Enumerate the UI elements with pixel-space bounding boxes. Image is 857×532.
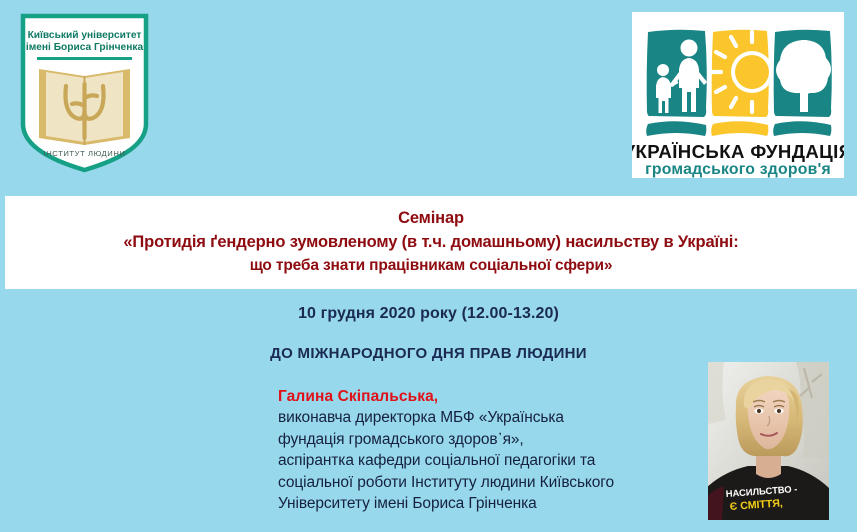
ukrainian-public-health-foundation-logo: УКРАЇНСЬКА ФУНДАЦІЯ громадського здоров'… xyxy=(632,12,844,178)
title-banner: Семінар «Протидія ґендерно зумовленому (… xyxy=(5,196,857,289)
shield-title-line1: Київський університет xyxy=(28,30,142,41)
shield-footer-label: ІНСТИТУТ ЛЮДИНИ xyxy=(44,149,126,158)
presentation-slide: Київський університет імені Бориса Грінч… xyxy=(0,0,857,532)
speaker-description-line-3: аспірантка кафедри соціальної педагогіки… xyxy=(278,450,698,472)
speaker-block: Галина Скіпальська, виконавча директорка… xyxy=(278,386,698,515)
shield-divider xyxy=(37,57,132,60)
foundation-emblem-icon: УКРАЇНСЬКА ФУНДАЦІЯ громадського здоров'… xyxy=(632,12,844,178)
foundation-subtitle: громадського здоров'я xyxy=(645,161,831,178)
speaker-portrait-photo: НАСИЛЬСТВО - Є СМІТТЯ, xyxy=(708,362,829,520)
portrait-image: НАСИЛЬСТВО - Є СМІТТЯ, xyxy=(708,362,829,520)
event-date: 10 грудня 2020 року (12.00-13.20) xyxy=(0,305,857,323)
shield-title-line2: імені Бориса Грінченка xyxy=(26,42,144,53)
event-occasion: ДО МІЖНАРОДНОГО ДНЯ ПРАВ ЛЮДИНИ xyxy=(0,345,857,362)
foundation-title: УКРАЇНСЬКА ФУНДАЦІЯ xyxy=(632,141,844,162)
seminar-label: Семінар xyxy=(398,206,464,230)
speaker-description-line-2: фундація громадського здоров᾿я», xyxy=(278,429,698,451)
speaker-name: Галина Скіпальська, xyxy=(278,386,698,407)
seminar-title-line1: «Протидія ґендерно зумовленому (в т.ч. д… xyxy=(123,230,738,254)
kyiv-university-shield-logo: Київський університет імені Бориса Грінч… xyxy=(19,12,150,174)
speaker-description-line-5: Університету імені Бориса Грінченка xyxy=(278,493,698,515)
speaker-description-line-1: виконавча директорка МБФ «Українська xyxy=(278,407,698,429)
seminar-title-line2: що треба знати працівникам соціальної сф… xyxy=(250,254,613,278)
speaker-description-line-4: соціальної роботи Інституту людини Київс… xyxy=(278,472,698,494)
shield-icon: Київський університет імені Бориса Грінч… xyxy=(19,12,150,174)
